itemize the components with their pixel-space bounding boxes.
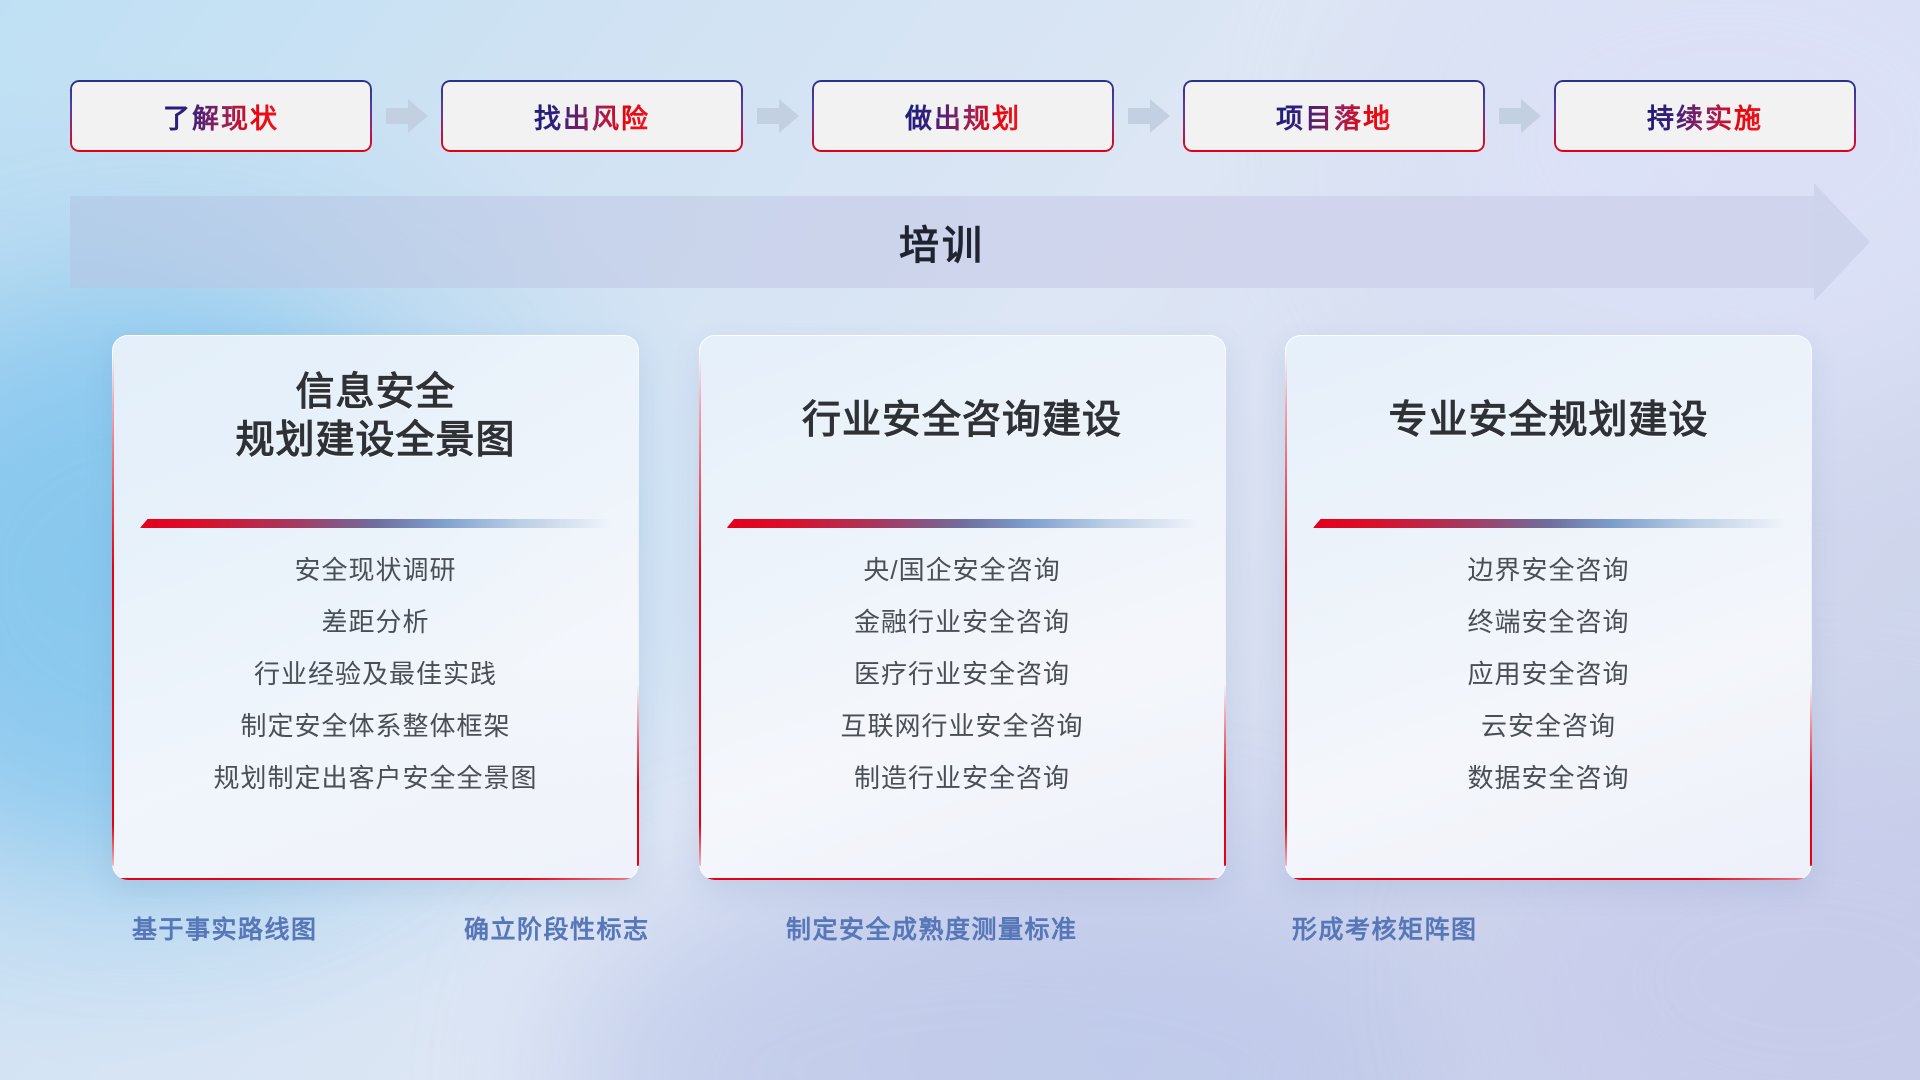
card-industry-security-consulting[interactable]: 行业安全咨询建设 央/国企安全咨询 金融行业安全咨询 医疗行业安全咨询 互联网行… — [699, 335, 1226, 880]
caption-row: 基于事实路线图 确立阶段性标志 制定安全成熟度测量标准 形成考核矩阵图 — [0, 910, 1920, 956]
stage-label-2: 找出风险 — [534, 97, 650, 136]
caption-milestone: 确立阶段性标志 — [464, 910, 650, 946]
slide-canvas: 了解现状 找出风险 做出规划 项目落地 持续实施 培训 — [0, 0, 1920, 1080]
card-divider — [727, 519, 1199, 528]
background-blob — [560, 860, 1460, 1080]
list-item: 制造行业安全咨询 — [723, 765, 1202, 791]
list-item: 数据安全咨询 — [1309, 765, 1788, 791]
stage-box-2[interactable]: 找出风险 — [441, 80, 743, 152]
list-item: 央/国企安全咨询 — [723, 557, 1202, 583]
stage-box-1[interactable]: 了解现状 — [70, 80, 372, 152]
card-item-list: 边界安全咨询 终端安全咨询 应用安全咨询 云安全咨询 数据安全咨询 — [1285, 557, 1812, 791]
card-professional-security-planning[interactable]: 专业安全规划建设 边界安全咨询 终端安全咨询 应用安全咨询 云安全咨询 数据安全… — [1285, 335, 1812, 880]
card-accent-edge — [1287, 878, 1810, 880]
list-item: 制定安全体系整体框架 — [136, 713, 615, 739]
stage-label-3: 做出规划 — [905, 97, 1021, 136]
card-item-list: 央/国企安全咨询 金融行业安全咨询 医疗行业安全咨询 互联网行业安全咨询 制造行… — [699, 557, 1226, 791]
stage-label-5: 持续实施 — [1647, 97, 1763, 136]
stage-box-4[interactable]: 项目落地 — [1183, 80, 1485, 152]
banner-arrow-tip-icon — [1814, 183, 1870, 301]
list-item: 安全现状调研 — [136, 557, 615, 583]
list-item: 云安全咨询 — [1309, 713, 1788, 739]
list-item: 终端安全咨询 — [1309, 609, 1788, 635]
card-divider — [1313, 519, 1785, 528]
card-row: 信息安全 规划建设全景图 安全现状调研 差距分析 行业经验及最佳实践 制定安全体… — [112, 335, 1812, 880]
right-arrow-icon — [1128, 99, 1170, 133]
stage-label-1: 了解现状 — [163, 97, 279, 136]
stage-box-3[interactable]: 做出规划 — [812, 80, 1114, 152]
card-title-line-2: 规划建设全景图 — [132, 417, 619, 465]
card-title-line-1: 专业安全规划建设 — [1305, 397, 1792, 445]
right-arrow-icon — [757, 99, 799, 133]
list-item: 互联网行业安全咨询 — [723, 713, 1202, 739]
caption-roadmap: 基于事实路线图 — [132, 910, 318, 946]
list-item: 金融行业安全咨询 — [723, 609, 1202, 635]
card-title: 专业安全规划建设 — [1285, 397, 1812, 445]
list-item: 应用安全咨询 — [1309, 661, 1788, 687]
stage-box-5[interactable]: 持续实施 — [1554, 80, 1856, 152]
right-arrow-icon — [386, 99, 428, 133]
banner-title: 培训 — [70, 196, 1814, 288]
list-item: 医疗行业安全咨询 — [723, 661, 1202, 687]
list-item: 边界安全咨询 — [1309, 557, 1788, 583]
list-item: 规划制定出客户安全全景图 — [136, 765, 615, 791]
card-divider — [140, 519, 612, 528]
card-title: 信息安全 规划建设全景图 — [112, 369, 639, 464]
card-information-security[interactable]: 信息安全 规划建设全景图 安全现状调研 差距分析 行业经验及最佳实践 制定安全体… — [112, 335, 639, 880]
card-title: 行业安全咨询建设 — [699, 397, 1226, 445]
card-accent-edge — [114, 878, 637, 880]
card-accent-edge — [701, 878, 1224, 880]
stage-flow-row: 了解现状 找出风险 做出规划 项目落地 持续实施 — [70, 78, 1856, 154]
list-item: 差距分析 — [136, 609, 615, 635]
training-banner: 培训 — [70, 196, 1870, 288]
stage-label-4: 项目落地 — [1276, 97, 1392, 136]
list-item: 行业经验及最佳实践 — [136, 661, 615, 687]
card-title-line-1: 信息安全 — [132, 369, 619, 417]
caption-maturity-standard: 制定安全成熟度测量标准 — [786, 910, 1078, 946]
card-item-list: 安全现状调研 差距分析 行业经验及最佳实践 制定安全体系整体框架 规划制定出客户… — [112, 557, 639, 791]
card-title-line-1: 行业安全咨询建设 — [719, 397, 1206, 445]
right-arrow-icon — [1499, 99, 1541, 133]
caption-assessment-matrix: 形成考核矩阵图 — [1292, 910, 1478, 946]
